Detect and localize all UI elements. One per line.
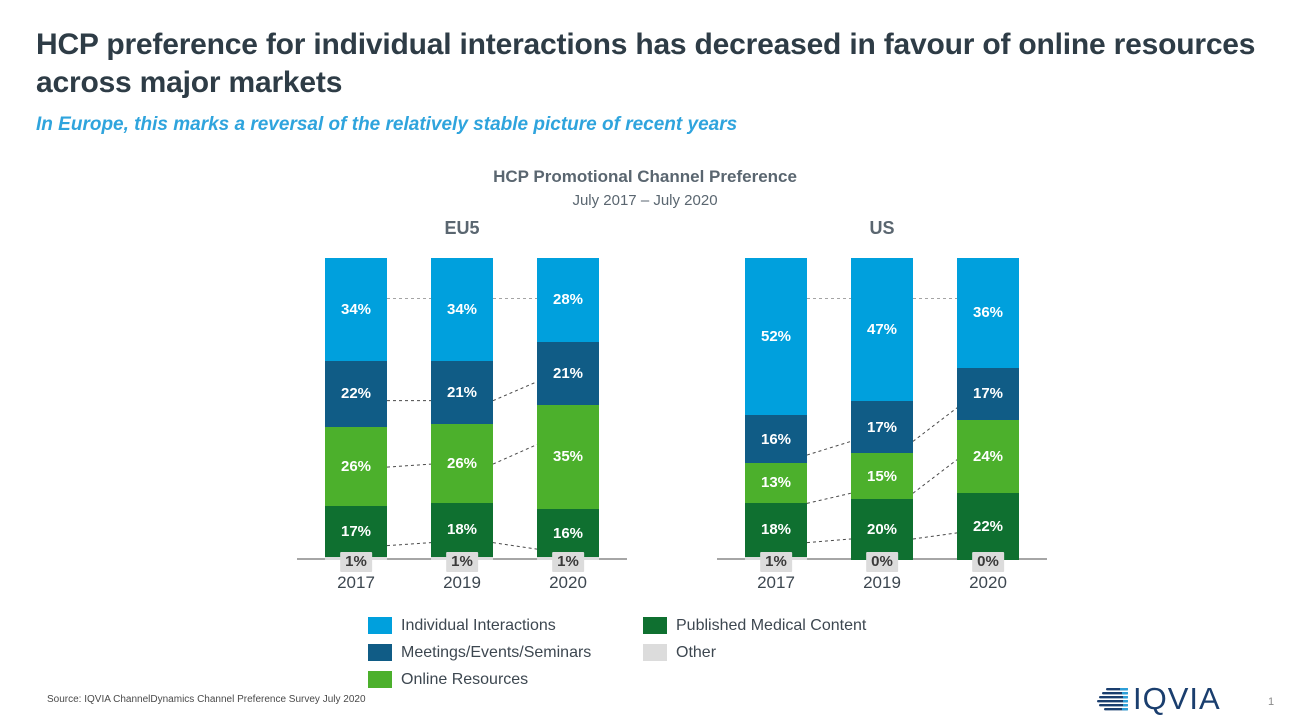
bar-segment: 34% [325,258,387,361]
stacked-bar: 47%17%15%20%0% [851,258,913,560]
bar-value-label: 17% [341,523,371,540]
legend-swatch-online-resources [368,671,392,688]
bar-value-label-other: 0% [866,552,898,572]
iqvia-bars-icon [1096,686,1130,712]
legend-column-left: Individual Interactions Meetings/Events/… [368,612,591,693]
category-label: 2019 [851,573,913,593]
legend-item[interactable]: Other [643,639,866,666]
bar-segment: 22% [325,361,387,427]
bar-value-label-other: 1% [552,552,584,572]
bar-value-label-other: 1% [340,552,372,572]
bar-segment: 18% [431,503,493,557]
bar-segment: 24% [957,420,1019,493]
chart-legend: Individual Interactions Meetings/Events/… [368,612,928,688]
bar-value-label: 17% [973,385,1003,402]
page-subtitle: In Europe, this marks a reversal of the … [36,113,1256,138]
legend-label: Online Resources [401,671,528,689]
category-labels-eu5: 2017 2019 2020 [297,573,627,599]
bar-value-label: 47% [867,321,897,338]
stacked-bar: 28%21%35%16%1% [537,258,599,560]
legend-label: Meetings/Events/Seminars [401,644,591,662]
legend-label: Individual Interactions [401,617,556,635]
slide: HCP preference for individual interactio… [0,0,1290,726]
category-label: 2017 [745,573,807,593]
bar-value-label: 26% [447,455,477,472]
bar-value-label: 36% [973,304,1003,321]
bar-segment: 28% [537,258,599,342]
bar-segment: 16% [745,415,807,463]
bar-segment: 21% [537,342,599,405]
bar-segment: 1% [431,557,493,560]
connector-line [913,408,957,442]
category-labels-us: 2017 2019 2020 [717,573,1047,599]
bar-value-label: 21% [553,365,583,382]
bar-value-label: 52% [761,328,791,345]
bar-value-label: 28% [553,291,583,308]
legend-item[interactable]: Meetings/Events/Seminars [368,639,591,666]
bar-segment: 22% [957,493,1019,560]
connector-line [493,543,537,550]
bar-segment: 17% [851,401,913,453]
page-number: 1 [1268,696,1274,708]
bar-segment: 13% [745,463,807,502]
bar-segment: 1% [745,557,807,560]
bar-value-label: 18% [761,521,791,538]
bar-value-label: 15% [867,468,897,485]
stacked-bar: 34%21%26%18%1% [431,258,493,560]
bar-value-label: 21% [447,384,477,401]
category-label: 2017 [325,573,387,593]
bar-segment: 18% [745,503,807,557]
bar-segment: 36% [957,258,1019,368]
bar-segment: 1% [537,557,599,560]
legend-item[interactable]: Individual Interactions [368,612,591,639]
iqvia-logo: IQVIA [1096,683,1221,714]
legend-column-right: Published Medical Content Other [643,612,866,666]
legend-swatch-meetings-events-seminars [368,644,392,661]
stacked-bar: 52%16%13%18%1% [745,258,807,560]
bar-segment: 20% [851,499,913,560]
connector-line [807,539,851,543]
stacked-bar: 34%22%26%17%1% [325,258,387,560]
bar-segment: 17% [957,368,1019,420]
bar-value-label: 35% [553,448,583,465]
chart-subtitle: July 2017 – July 2020 [0,192,1290,209]
bar-value-label-other: 1% [446,552,478,572]
bar-value-label: 22% [341,385,371,402]
legend-item[interactable]: Online Resources [368,666,591,693]
connector-line [913,460,957,494]
panel-label-us: US [717,218,1047,239]
page-title: HCP preference for individual interactio… [36,26,1256,103]
iqvia-wordmark: IQVIA [1133,683,1221,714]
connector-line [493,445,537,465]
bar-segment: 35% [537,405,599,510]
category-label: 2020 [537,573,599,593]
bar-value-label: 26% [341,458,371,475]
bar-value-label: 22% [973,518,1003,535]
bar-segment: 15% [851,453,913,499]
bar-value-label: 34% [341,301,371,318]
bar-value-label: 16% [761,431,791,448]
bar-segment: 34% [431,258,493,361]
bar-value-label: 17% [867,419,897,436]
bar-segment: 21% [431,361,493,424]
bar-value-label: 13% [761,474,791,491]
bar-value-label-other: 0% [972,552,1004,572]
category-label: 2020 [957,573,1019,593]
legend-swatch-individual-interactions [368,617,392,634]
bar-segment: 26% [431,424,493,503]
bar-value-label: 16% [553,525,583,542]
bar-value-label-other: 1% [760,552,792,572]
legend-item[interactable]: Published Medical Content [643,612,866,639]
source-note: Source: IQVIA ChannelDynamics Channel Pr… [47,694,366,705]
bar-value-label: 24% [973,448,1003,465]
bar-value-label: 34% [447,301,477,318]
bar-segment: 1% [325,557,387,560]
category-label: 2019 [431,573,493,593]
connector-line [387,464,431,467]
legend-label: Published Medical Content [676,617,866,635]
connector-line [807,441,851,455]
plot-area-eu5: 34%22%26%17%1%34%21%26%18%1%28%21%35%16%… [297,258,627,560]
stacked-bar: 36%17%24%22%0% [957,258,1019,560]
legend-swatch-published-medical-content [643,617,667,634]
bar-segment: 26% [325,427,387,506]
bar-segment: 52% [745,258,807,415]
bar-value-label: 20% [867,521,897,538]
chart-title: HCP Promotional Channel Preference [0,167,1290,187]
bar-segment: 47% [851,258,913,401]
connector-line [493,382,537,401]
bar-segment: 16% [537,509,599,557]
connector-line [807,493,851,503]
plot-area-us: 52%16%13%18%1%47%17%15%20%0%36%17%24%22%… [717,258,1047,560]
panel-label-eu5: EU5 [297,218,627,239]
connector-line [913,533,957,539]
legend-swatch-other [643,644,667,661]
connector-line [387,543,431,546]
legend-label: Other [676,644,716,662]
bar-value-label: 18% [447,521,477,538]
bar-segment: 17% [325,506,387,557]
